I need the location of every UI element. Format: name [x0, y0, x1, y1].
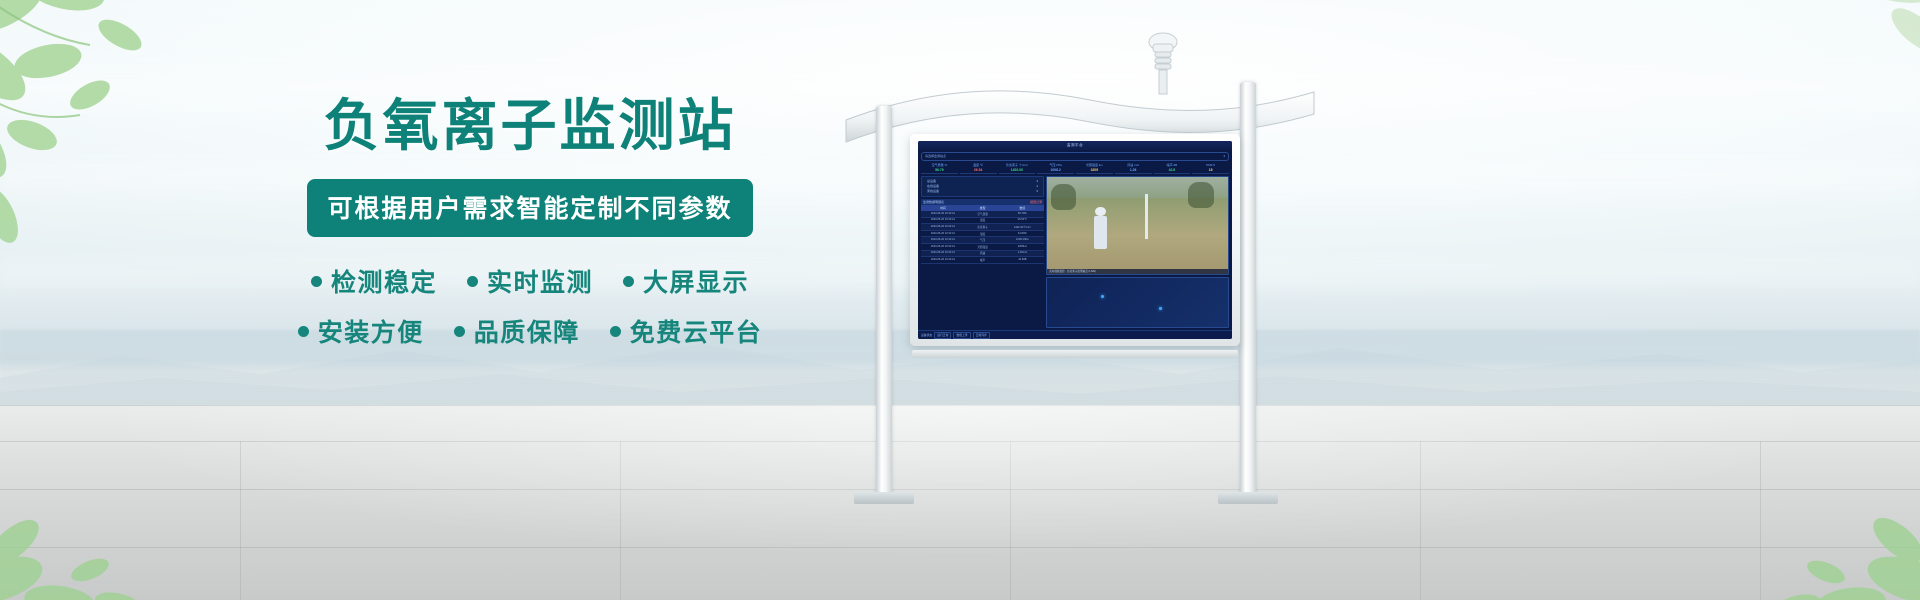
- metric-label: PM2.5: [1192, 163, 1229, 167]
- stat-value: 0: [1037, 189, 1039, 193]
- table-row[interactable]: 2023-06-20 10:32:41 温度 26.54℃: [921, 218, 1044, 225]
- bullet-dot-icon: [610, 326, 621, 337]
- bullet-dot-icon: [467, 276, 478, 287]
- dashboard-body: 总设备 2 在线设备 2 离线设备 0: [921, 176, 1229, 329]
- cell-type: 空气质量: [963, 212, 1003, 216]
- metric-card[interactable]: 气压 hPa 1008.2: [1037, 163, 1074, 174]
- stat-value: 2: [1037, 179, 1039, 183]
- metric-card[interactable]: 空气质量 % 56.79: [921, 163, 958, 174]
- display-lower-trim: [912, 350, 1238, 358]
- table-row[interactable]: 2023-06-20 10:32:41 负氧离子 1402.00个/cm³: [921, 224, 1044, 231]
- cell-type: 噪声: [963, 258, 1003, 262]
- cell-time: 2023-06-20 10:32:41: [923, 245, 963, 249]
- station-select[interactable]: 请选择监测站点 ▾: [921, 152, 1229, 161]
- banner-copy: 负氧离子监测站 可根据用户需求智能定制不同参数 检测稳定 实时监测 大屏显示: [300, 96, 760, 363]
- feature-item: 免费云平台: [610, 313, 763, 349]
- station-select-value: 请选择监测站点: [925, 154, 946, 158]
- cell-time: 2023-06-20 10:32:41: [923, 232, 963, 236]
- status-chip[interactable]: 云端同步: [973, 332, 990, 339]
- feature-row: 检测稳定 实时监测 大屏显示: [300, 263, 760, 299]
- station-map[interactable]: [1046, 277, 1229, 328]
- video-person: [1094, 216, 1107, 249]
- stat-value: 2: [1037, 184, 1039, 188]
- map-pin-icon[interactable]: [1101, 295, 1104, 298]
- video-tree: [1188, 182, 1213, 207]
- stat-label: 总设备: [927, 179, 936, 183]
- display-housing: 监测平台 请选择监测站点 ▾ 空气质量 % 56.79 温度 ℃ 26.54: [910, 134, 1240, 346]
- cell-time: 2023-06-20 10:32:41: [923, 218, 963, 222]
- metric-card[interactable]: 负氧离子 个/cm³ 1402.00: [999, 163, 1036, 174]
- cell-value: 1.26m/s: [1002, 251, 1042, 255]
- dashboard-footer: 设备状态 运行正常 数据上传 云端同步: [918, 330, 1232, 339]
- cell-type: 温度: [963, 218, 1003, 222]
- status-chip[interactable]: 数据上传: [953, 332, 970, 339]
- cell-value: 61.80%: [1002, 232, 1042, 236]
- feature-label: 大屏显示: [643, 263, 749, 299]
- cell-value: 3205lux: [1002, 245, 1042, 249]
- metric-label: 噪声 dB: [1154, 163, 1191, 167]
- metric-label: 风速 m/s: [1115, 163, 1152, 167]
- table-row[interactable]: 2023-06-20 10:32:41 噪声 42.8dB: [921, 257, 1044, 264]
- column-header: 类型: [963, 206, 1003, 210]
- bullet-dot-icon: [311, 276, 322, 287]
- feature-label: 检测稳定: [331, 263, 437, 299]
- column-header: 数值: [1002, 206, 1042, 210]
- promo-banner: 负氧离子监测站 可根据用户需求智能定制不同参数 检测稳定 实时监测 大屏显示: [0, 0, 1920, 600]
- table-row[interactable]: 2023-06-20 10:32:41 光照强度 3205lux: [921, 244, 1044, 251]
- table-row[interactable]: 2023-06-20 10:32:41 空气质量 56.79%: [921, 211, 1044, 218]
- feature-list: 检测稳定 实时监测 大屏显示 安装方便 品质保障: [300, 263, 760, 349]
- metric-card[interactable]: 光照强度 lux 3205: [1076, 163, 1113, 174]
- cell-type: 光照强度: [963, 245, 1003, 249]
- data-table: 监测数据明细表 报警记录 时间 类型 数值 2023-06-20 10:32:4…: [921, 199, 1044, 328]
- feature-item: 大屏显示: [623, 263, 749, 299]
- cell-type: 气压: [963, 238, 1003, 242]
- stat-row: 离线设备 0: [924, 189, 1041, 194]
- metric-value: 1008.2: [1037, 168, 1074, 172]
- table-title: 监测数据明细表: [923, 200, 944, 204]
- metric-label: 空气质量 %: [921, 163, 958, 167]
- subtitle-pill: 可根据用户需求智能定制不同参数: [307, 179, 752, 237]
- metric-value: 1402.00: [999, 168, 1036, 172]
- feature-label: 实时监测: [487, 263, 593, 299]
- stat-label: 离线设备: [927, 189, 939, 193]
- cell-time: 2023-06-20 10:32:41: [923, 251, 963, 255]
- metric-label: 温度 ℃: [960, 163, 997, 167]
- metric-value: 3205: [1076, 168, 1113, 172]
- cell-time: 2023-06-20 10:32:41: [923, 258, 963, 262]
- stat-label: 在线设备: [927, 184, 939, 188]
- metric-value: 42.8: [1154, 168, 1191, 172]
- kiosk-base-right: [1218, 492, 1278, 504]
- kiosk-post-right: [1240, 82, 1256, 496]
- cell-value: 1402.00个/cm³: [1002, 225, 1042, 229]
- map-pin-icon[interactable]: [1159, 307, 1162, 310]
- device-stats-panel: 总设备 2 在线设备 2 离线设备 0: [921, 176, 1044, 198]
- table-row[interactable]: 2023-06-20 10:32:41 风速 1.26m/s: [921, 251, 1044, 258]
- cell-type: 湿度: [963, 232, 1003, 236]
- cell-value: 1008.2hPa: [1002, 238, 1042, 242]
- feature-item: 品质保障: [454, 313, 580, 349]
- live-video-feed[interactable]: 实时视频监控 - 负氧离子监测站点 (LIVE): [1046, 176, 1229, 276]
- metric-value: 56.79: [921, 168, 958, 172]
- cell-value: 56.79%: [1002, 212, 1042, 216]
- cell-type: 负氧离子: [963, 225, 1003, 229]
- feature-label: 安装方便: [318, 313, 424, 349]
- metric-card[interactable]: 风速 m/s 1.26: [1115, 163, 1152, 174]
- dashboard-right-column: 实时视频监控 - 负氧离子监测站点 (LIVE): [1046, 176, 1229, 329]
- dashboard-screen[interactable]: 监测平台 请选择监测站点 ▾ 空气质量 % 56.79 温度 ℃ 26.54: [918, 141, 1232, 339]
- metric-card[interactable]: 噪声 dB 42.8: [1154, 163, 1191, 174]
- chevron-down-icon: ▾: [1223, 154, 1225, 158]
- metric-card[interactable]: 温度 ℃ 26.54: [960, 163, 997, 174]
- status-chip[interactable]: 运行正常: [934, 332, 951, 339]
- dashboard-left-column: 总设备 2 在线设备 2 离线设备 0: [921, 176, 1044, 329]
- feature-item: 安装方便: [298, 313, 424, 349]
- bullet-dot-icon: [298, 326, 309, 337]
- cell-value: 42.8dB: [1002, 258, 1042, 262]
- cell-time: 2023-06-20 10:32:41: [923, 238, 963, 242]
- video-sensor-mast: [1145, 194, 1148, 239]
- footer-label: 设备状态: [921, 333, 932, 337]
- metric-value: 18: [1192, 168, 1229, 172]
- page-title: 负氧离子监测站: [300, 96, 760, 155]
- table-row[interactable]: 2023-06-20 10:32:41 气压 1008.2hPa: [921, 237, 1044, 244]
- video-tree: [1051, 184, 1076, 209]
- feature-row: 安装方便 品质保障 免费云平台: [300, 313, 760, 349]
- metric-label: 气压 hPa: [1037, 163, 1074, 167]
- metric-label: 负氧离子 个/cm³: [999, 163, 1036, 167]
- monitoring-kiosk: 监测平台 请选择监测站点 ▾ 空气质量 % 56.79 温度 ℃ 26.54: [840, 20, 1320, 580]
- metric-cards-row-1: 空气质量 % 56.79 温度 ℃ 26.54 负氧离子 个/cm³ 1402.…: [921, 163, 1229, 174]
- metric-card[interactable]: PM2.5 18: [1192, 163, 1229, 174]
- cell-time: 2023-06-20 10:32:41: [923, 212, 963, 216]
- metric-value: 1.26: [1115, 168, 1152, 172]
- feature-item: 检测稳定: [311, 263, 437, 299]
- cell-type: 风速: [963, 251, 1003, 255]
- cell-time: 2023-06-20 10:32:41: [923, 225, 963, 229]
- video-caption: 实时视频监控 - 负氧离子监测站点 (LIVE): [1047, 269, 1228, 275]
- kiosk-post-left: [876, 106, 892, 496]
- kiosk-base-left: [854, 492, 914, 504]
- dashboard-header: 监测平台: [918, 141, 1232, 150]
- metric-label: 光照强度 lux: [1076, 163, 1113, 167]
- feature-item: 实时监测: [467, 263, 593, 299]
- weather-sensor-icon: [1140, 30, 1186, 96]
- table-row[interactable]: 2023-06-20 10:32:41 湿度 61.80%: [921, 231, 1044, 238]
- feature-label: 品质保障: [474, 313, 580, 349]
- alarm-badge[interactable]: 报警记录: [1030, 200, 1042, 204]
- bullet-dot-icon: [454, 326, 465, 337]
- column-header: 时间: [923, 206, 963, 210]
- cell-value: 26.54℃: [1002, 218, 1042, 222]
- metric-value: 26.54: [960, 168, 997, 172]
- bullet-dot-icon: [623, 276, 634, 287]
- feature-label: 免费云平台: [630, 313, 763, 349]
